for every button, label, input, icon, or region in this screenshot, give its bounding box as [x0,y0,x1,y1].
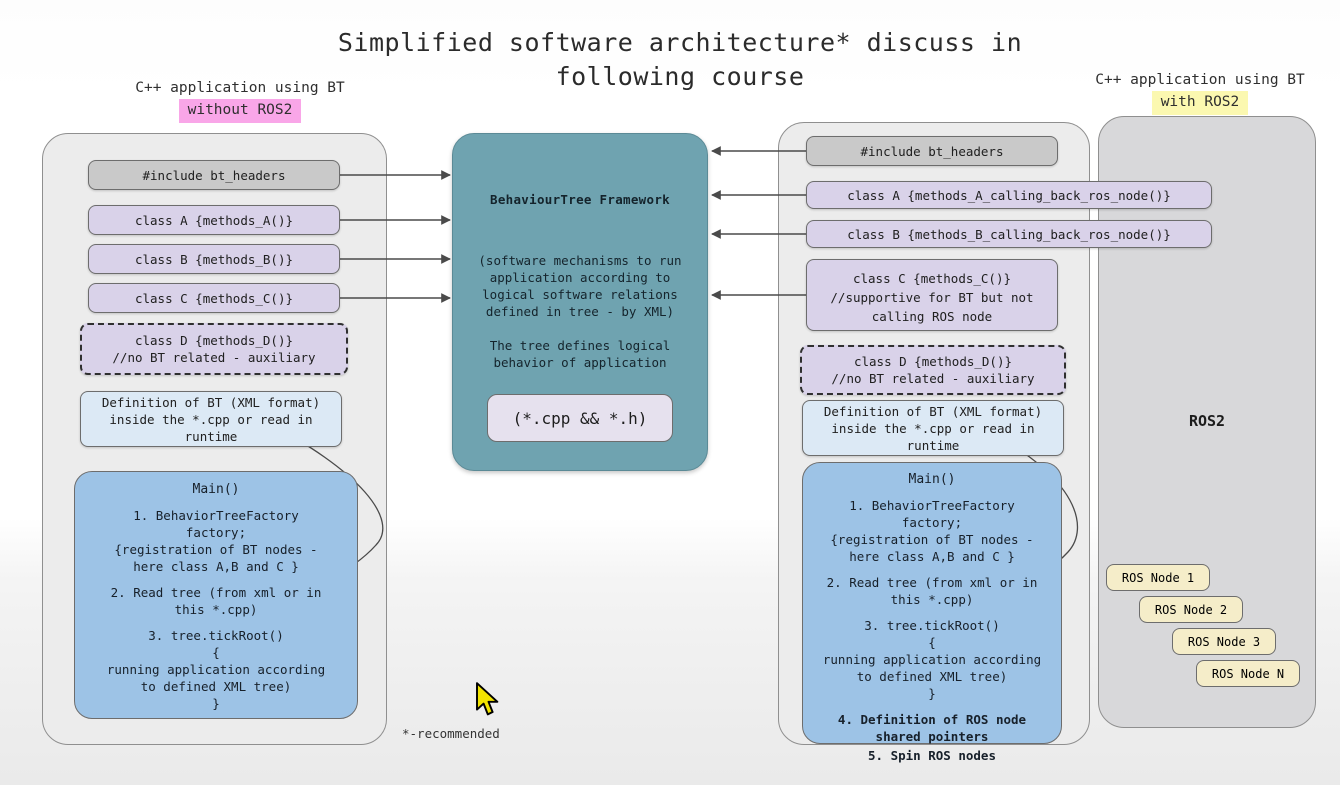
left-main-step-3: 3. tree.tickRoot() { running application… [83,627,349,712]
right-include-box[interactable]: #include bt_headers [806,136,1058,166]
framework-files-chip: (*.cpp && *.h) [487,394,673,442]
right-class-c-box[interactable]: class C {methods_C()} //supportive for B… [806,259,1058,331]
right-column-heading: C++ application using BT with ROS2 [1060,70,1340,115]
right-main-step-5: 5. Spin ROS nodes [810,747,1054,764]
page-title: Simplified software architecture* discus… [330,26,1030,94]
left-heading-line1: C++ application using BT [80,78,400,99]
right-main-title: Main() [810,472,1054,487]
left-class-a-box[interactable]: class A {methods_A()} [88,205,340,235]
diagram-canvas: Simplified software architecture* discus… [0,0,1340,785]
right-heading-highlight: with ROS2 [1152,91,1249,115]
left-main-step-2: 2. Read tree (from xml or in this *.cpp) [83,584,349,618]
mouse-cursor [474,682,504,718]
right-main-box[interactable]: Main() 1. BehaviorTreeFactory factory; {… [802,462,1062,744]
ros-node-3[interactable]: ROS Node 3 [1172,628,1276,655]
right-class-a-box[interactable]: class A {methods_A_calling_back_ros_node… [806,181,1212,209]
right-main-step-2: 2. Read tree (from xml or in this *.cpp) [810,574,1054,608]
ros-node-n[interactable]: ROS Node N [1196,660,1300,687]
left-include-box[interactable]: #include bt_headers [88,160,340,190]
left-class-b-box[interactable]: class B {methods_B()} [88,244,340,274]
right-class-d-box[interactable]: class D {methods_D()} //no BT related - … [800,345,1066,395]
left-column-heading: C++ application using BT without ROS2 [80,78,400,123]
footnote: *-recommended [402,726,562,741]
left-heading-highlight: without ROS2 [179,99,302,123]
ros2-title: ROS2 [1098,412,1316,430]
framework-description: (software mechanisms to run application … [462,252,698,371]
right-class-b-box[interactable]: class B {methods_B_calling_back_ros_node… [806,220,1212,248]
left-main-step-1: 1. BehaviorTreeFactory factory; {registr… [83,507,349,575]
framework-title: BehaviourTree Framework [452,192,708,207]
left-bt-definition-box[interactable]: Definition of BT (XML format) inside the… [80,391,342,447]
right-main-step-3: 3. tree.tickRoot() { running application… [810,617,1054,702]
right-main-step-4: 4. Definition of ROS node shared pointer… [810,711,1054,745]
left-class-c-box[interactable]: class C {methods_C()} [88,283,340,313]
left-main-title: Main() [83,482,349,497]
right-bt-definition-box[interactable]: Definition of BT (XML format) inside the… [802,400,1064,456]
left-class-d-box[interactable]: class D {methods_D()} //no BT related - … [80,323,348,375]
right-main-step-1: 1. BehaviorTreeFactory factory; {registr… [810,497,1054,565]
left-main-box[interactable]: Main() 1. BehaviorTreeFactory factory; {… [74,471,358,719]
ros-node-1[interactable]: ROS Node 1 [1106,564,1210,591]
ros-node-2[interactable]: ROS Node 2 [1139,596,1243,623]
right-heading-line1: C++ application using BT [1060,70,1340,91]
